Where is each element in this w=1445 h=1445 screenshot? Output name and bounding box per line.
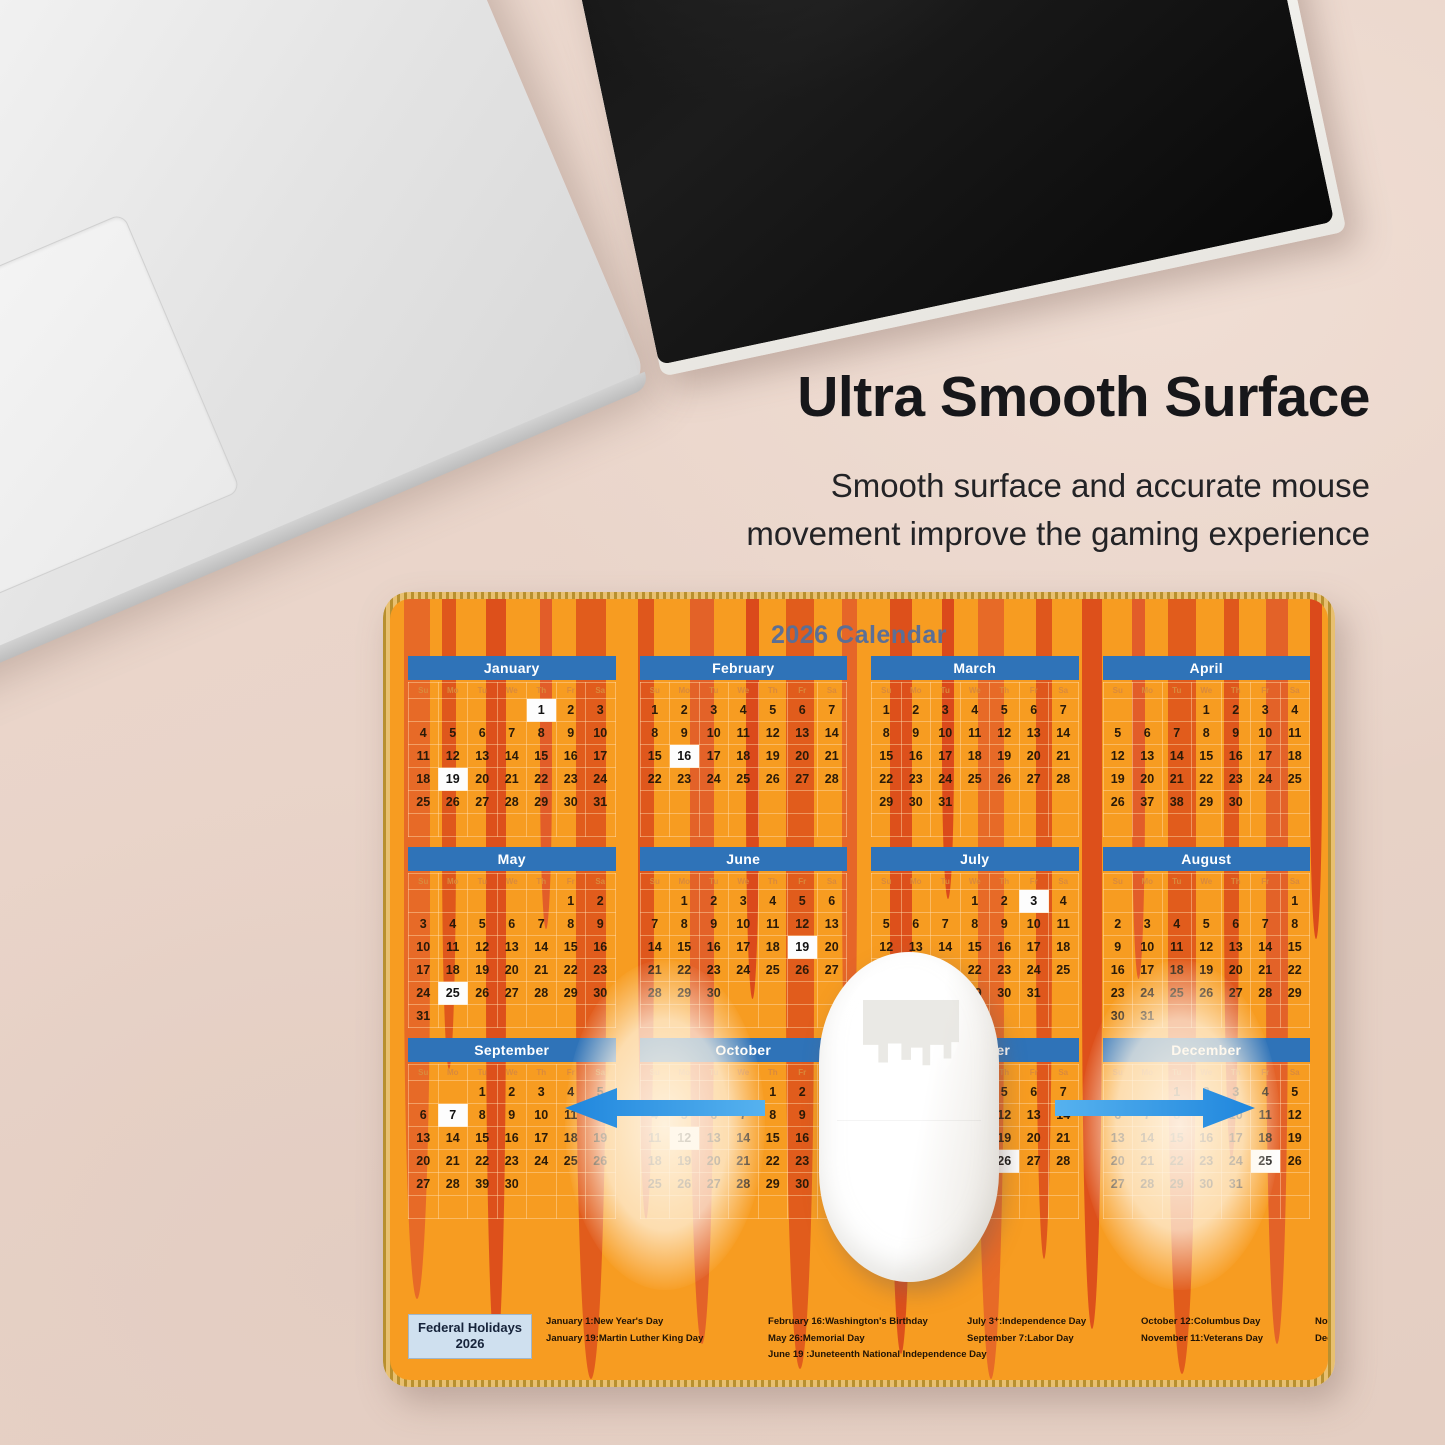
calendar-day-cell[interactable]: 1: [960, 890, 990, 913]
calendar-day-cell[interactable]: 9: [670, 722, 700, 745]
calendar-day-cell[interactable]: 14: [438, 1127, 468, 1150]
calendar-day-cell[interactable]: 22: [468, 1150, 498, 1173]
calendar-day-cell[interactable]: 11: [640, 1127, 670, 1150]
calendar-day-cell[interactable]: 30: [1192, 1173, 1222, 1196]
calendar-day-cell[interactable]: 3: [586, 699, 616, 722]
calendar-day-cell[interactable]: 21: [1133, 1150, 1163, 1173]
calendar-day-cell[interactable]: 29: [872, 791, 902, 814]
calendar-day-cell[interactable]: 13: [1133, 745, 1163, 768]
calendar-day-cell[interactable]: 5: [1192, 913, 1222, 936]
calendar-day-cell[interactable]: 20: [1133, 768, 1163, 791]
calendar-day-cell[interactable]: 4: [960, 699, 990, 722]
calendar-day-cell[interactable]: 26: [670, 1173, 700, 1196]
calendar-day-cell[interactable]: 27: [1221, 982, 1251, 1005]
calendar-day-cell[interactable]: 10: [1133, 936, 1163, 959]
calendar-day-cell[interactable]: 17: [1251, 745, 1281, 768]
calendar-day-cell[interactable]: 4: [758, 890, 788, 913]
calendar-day-cell[interactable]: 8: [1192, 722, 1222, 745]
calendar-day-cell[interactable]: 15: [1280, 936, 1310, 959]
calendar-day-cell[interactable]: 8: [872, 722, 902, 745]
calendar-day-cell[interactable]: 19: [1280, 1127, 1310, 1150]
calendar-day-cell[interactable]: 12: [1192, 936, 1222, 959]
calendar-day-cell[interactable]: 16: [788, 1127, 818, 1150]
calendar-day-cell[interactable]: 8: [1280, 913, 1310, 936]
calendar-day-cell[interactable]: 16: [586, 936, 616, 959]
calendar-day-cell[interactable]: 2: [990, 890, 1020, 913]
calendar-day-cell[interactable]: 14: [1162, 745, 1192, 768]
calendar-day-cell[interactable]: 6: [1221, 913, 1251, 936]
calendar-day-cell[interactable]: 23: [586, 959, 616, 982]
calendar-day-cell[interactable]: 30: [1103, 1005, 1133, 1028]
calendar-day-cell[interactable]: 10: [699, 722, 729, 745]
calendar-day-cell[interactable]: 10: [931, 722, 961, 745]
calendar-day-cell[interactable]: 21: [1049, 1127, 1079, 1150]
calendar-day-cell[interactable]: 30: [497, 1173, 527, 1196]
calendar-day-cell[interactable]: 6: [1019, 1081, 1049, 1104]
calendar-day-cell[interactable]: 23: [670, 768, 700, 791]
calendar-day-cell[interactable]: 11: [409, 745, 439, 768]
calendar-day-cell[interactable]: 25: [729, 768, 759, 791]
calendar-day-cell[interactable]: 18: [1049, 936, 1079, 959]
calendar-day-cell[interactable]: 1: [1192, 699, 1222, 722]
calendar-day-cell[interactable]: 10: [527, 1104, 557, 1127]
calendar-day-cell[interactable]: 31: [1133, 1005, 1163, 1028]
calendar-day-cell[interactable]: 16: [497, 1127, 527, 1150]
calendar-day-cell[interactable]: 29: [670, 982, 700, 1005]
calendar-day-cell[interactable]: 31: [1019, 982, 1049, 1005]
calendar-day-cell[interactable]: 30: [586, 982, 616, 1005]
calendar-day-cell[interactable]: 7: [438, 1104, 468, 1127]
calendar-day-cell[interactable]: 19: [758, 745, 788, 768]
calendar-day-cell[interactable]: 29: [556, 982, 586, 1005]
calendar-day-cell[interactable]: 11: [1049, 913, 1079, 936]
calendar-day-cell[interactable]: 7: [1049, 699, 1079, 722]
calendar-day-cell[interactable]: 4: [1280, 699, 1310, 722]
calendar-day-cell[interactable]: 16: [556, 745, 586, 768]
calendar-day-cell[interactable]: 26: [438, 791, 468, 814]
calendar-day-cell[interactable]: 2: [788, 1081, 818, 1104]
calendar-day-cell[interactable]: 2: [1221, 699, 1251, 722]
calendar-day-cell[interactable]: 38: [1162, 791, 1192, 814]
calendar-day-cell[interactable]: 26: [1103, 791, 1133, 814]
calendar-day-cell[interactable]: 25: [1251, 1150, 1281, 1173]
calendar-day-cell[interactable]: 8: [670, 913, 700, 936]
calendar-day-cell[interactable]: 17: [527, 1127, 557, 1150]
calendar-day-cell[interactable]: 2: [901, 699, 931, 722]
calendar-day-cell[interactable]: 26: [1192, 982, 1222, 1005]
calendar-day-cell[interactable]: 12: [670, 1127, 700, 1150]
calendar-day-cell[interactable]: 22: [1162, 1150, 1192, 1173]
calendar-day-cell[interactable]: 24: [1133, 982, 1163, 1005]
calendar-day-cell[interactable]: 28: [438, 1173, 468, 1196]
calendar-day-cell[interactable]: 11: [729, 722, 759, 745]
calendar-day-cell[interactable]: 21: [497, 768, 527, 791]
calendar-day-cell[interactable]: 28: [1133, 1173, 1163, 1196]
calendar-day-cell[interactable]: 23: [1103, 982, 1133, 1005]
calendar-day-cell[interactable]: 20: [699, 1150, 729, 1173]
calendar-day-cell[interactable]: 5: [872, 913, 902, 936]
calendar-day-cell[interactable]: 24: [409, 982, 439, 1005]
calendar-day-cell[interactable]: 21: [1162, 768, 1192, 791]
calendar-day-cell[interactable]: 10: [1251, 722, 1281, 745]
calendar-day-cell[interactable]: 25: [556, 1150, 586, 1173]
calendar-day-cell[interactable]: 13: [468, 745, 498, 768]
calendar-day-cell[interactable]: 22: [758, 1150, 788, 1173]
calendar-day-cell[interactable]: 8: [556, 913, 586, 936]
calendar-day-cell[interactable]: 17: [1221, 1127, 1251, 1150]
calendar-day-cell[interactable]: 28: [817, 768, 847, 791]
calendar-day-cell[interactable]: 22: [1192, 768, 1222, 791]
calendar-day-cell[interactable]: 14: [729, 1127, 759, 1150]
calendar-day-cell[interactable]: 13: [1019, 722, 1049, 745]
calendar-day-cell[interactable]: 20: [817, 936, 847, 959]
calendar-day-cell[interactable]: 8: [640, 722, 670, 745]
computer-mouse[interactable]: [819, 952, 999, 1282]
calendar-day-cell[interactable]: 21: [640, 959, 670, 982]
calendar-day-cell[interactable]: 12: [758, 722, 788, 745]
calendar-day-cell[interactable]: 18: [758, 936, 788, 959]
calendar-day-cell[interactable]: 17: [1133, 959, 1163, 982]
calendar-day-cell[interactable]: 19: [586, 1127, 616, 1150]
calendar-day-cell[interactable]: 24: [527, 1150, 557, 1173]
calendar-day-cell[interactable]: 22: [872, 768, 902, 791]
calendar-day-cell[interactable]: 37: [1133, 791, 1163, 814]
calendar-day-cell[interactable]: 10: [1019, 913, 1049, 936]
calendar-day-cell[interactable]: 9: [990, 913, 1020, 936]
calendar-day-cell[interactable]: 31: [931, 791, 961, 814]
calendar-day-cell[interactable]: 16: [1221, 745, 1251, 768]
calendar-day-cell[interactable]: 20: [468, 768, 498, 791]
calendar-day-cell[interactable]: 5: [788, 890, 818, 913]
calendar-day-cell[interactable]: 7: [527, 913, 557, 936]
calendar-day-cell[interactable]: 11: [438, 936, 468, 959]
calendar-day-cell[interactable]: 20: [497, 959, 527, 982]
calendar-day-cell[interactable]: 13: [497, 936, 527, 959]
calendar-day-cell[interactable]: 2: [497, 1081, 527, 1104]
calendar-day-cell[interactable]: 30: [1221, 791, 1251, 814]
calendar-day-cell[interactable]: 18: [1162, 959, 1192, 982]
calendar-day-cell[interactable]: 13: [1019, 1104, 1049, 1127]
calendar-day-cell[interactable]: 19: [1192, 959, 1222, 982]
calendar-day-cell[interactable]: 20: [1221, 959, 1251, 982]
calendar-day-cell[interactable]: 11: [1162, 936, 1192, 959]
calendar-day-cell[interactable]: 17: [931, 745, 961, 768]
calendar-day-cell[interactable]: 15: [1162, 1127, 1192, 1150]
calendar-day-cell[interactable]: 14: [640, 936, 670, 959]
calendar-day-cell[interactable]: 27: [409, 1173, 439, 1196]
calendar-day-cell[interactable]: 1: [670, 890, 700, 913]
calendar-day-cell[interactable]: 21: [817, 745, 847, 768]
calendar-day-cell[interactable]: 26: [990, 768, 1020, 791]
calendar-day-cell[interactable]: 25: [438, 982, 468, 1005]
calendar-day-cell[interactable]: 4: [409, 722, 439, 745]
calendar-day-cell[interactable]: 19: [670, 1150, 700, 1173]
calendar-day-cell[interactable]: 23: [556, 768, 586, 791]
calendar-day-cell[interactable]: 7: [497, 722, 527, 745]
calendar-day-cell[interactable]: 10: [409, 936, 439, 959]
calendar-day-cell[interactable]: 3: [1133, 913, 1163, 936]
calendar-day-cell[interactable]: 16: [1192, 1127, 1222, 1150]
calendar-day-cell[interactable]: 12: [1103, 745, 1133, 768]
calendar-day-cell[interactable]: 3: [1019, 890, 1049, 913]
calendar-day-cell[interactable]: 25: [758, 959, 788, 982]
calendar-day-cell[interactable]: 6: [468, 722, 498, 745]
calendar-day-cell[interactable]: 24: [931, 768, 961, 791]
calendar-day-cell[interactable]: 12: [990, 722, 1020, 745]
calendar-day-cell[interactable]: 14: [497, 745, 527, 768]
calendar-day-cell[interactable]: 21: [527, 959, 557, 982]
calendar-day-cell[interactable]: 4: [729, 699, 759, 722]
calendar-day-cell[interactable]: 13: [817, 913, 847, 936]
calendar-day-cell[interactable]: 24: [1251, 768, 1281, 791]
calendar-day-cell[interactable]: 15: [1192, 745, 1222, 768]
calendar-day-cell[interactable]: 22: [1280, 959, 1310, 982]
calendar-day-cell[interactable]: 23: [1221, 768, 1251, 791]
calendar-day-cell[interactable]: 27: [1103, 1173, 1133, 1196]
calendar-day-cell[interactable]: 3: [699, 699, 729, 722]
calendar-day-cell[interactable]: 25: [1280, 768, 1310, 791]
calendar-day-cell[interactable]: 14: [931, 936, 961, 959]
calendar-day-cell[interactable]: 15: [527, 745, 557, 768]
calendar-day-cell[interactable]: 23: [901, 768, 931, 791]
calendar-day-cell[interactable]: 27: [1019, 768, 1049, 791]
calendar-day-cell[interactable]: 18: [1280, 745, 1310, 768]
calendar-day-cell[interactable]: 25: [640, 1173, 670, 1196]
calendar-day-cell[interactable]: 1: [872, 699, 902, 722]
calendar-day-cell[interactable]: 29: [1192, 791, 1222, 814]
calendar-day-cell[interactable]: 7: [1251, 913, 1281, 936]
calendar-day-cell[interactable]: 18: [556, 1127, 586, 1150]
calendar-day-cell[interactable]: 3: [729, 890, 759, 913]
calendar-day-cell[interactable]: 16: [1103, 959, 1133, 982]
calendar-day-cell[interactable]: 30: [699, 982, 729, 1005]
calendar-day-cell[interactable]: 9: [699, 913, 729, 936]
calendar-day-cell[interactable]: 30: [556, 791, 586, 814]
calendar-day-cell[interactable]: 29: [1280, 982, 1310, 1005]
calendar-day-cell[interactable]: 6: [1133, 722, 1163, 745]
calendar-day-cell[interactable]: 27: [699, 1173, 729, 1196]
calendar-day-cell[interactable]: 9: [497, 1104, 527, 1127]
calendar-day-cell[interactable]: 28: [527, 982, 557, 1005]
calendar-day-cell[interactable]: 6: [817, 890, 847, 913]
calendar-day-cell[interactable]: 3: [931, 699, 961, 722]
calendar-day-cell[interactable]: 27: [1019, 1150, 1049, 1173]
calendar-day-cell[interactable]: 15: [758, 1127, 788, 1150]
calendar-day-cell[interactable]: 1: [468, 1081, 498, 1104]
calendar-day-cell[interactable]: 6: [497, 913, 527, 936]
calendar-day-cell[interactable]: 19: [1103, 768, 1133, 791]
calendar-day-cell[interactable]: 8: [527, 722, 557, 745]
calendar-day-cell[interactable]: 1: [1280, 890, 1310, 913]
calendar-day-cell[interactable]: 10: [586, 722, 616, 745]
calendar-day-cell[interactable]: 21: [1251, 959, 1281, 982]
calendar-day-cell[interactable]: 14: [1251, 936, 1281, 959]
calendar-day-cell[interactable]: 21: [729, 1150, 759, 1173]
calendar-day-cell[interactable]: 25: [1049, 959, 1079, 982]
calendar-day-cell[interactable]: 28: [1049, 768, 1079, 791]
calendar-day-cell[interactable]: 28: [640, 982, 670, 1005]
calendar-day-cell[interactable]: 2: [586, 890, 616, 913]
calendar-day-cell[interactable]: 6: [409, 1104, 439, 1127]
calendar-day-cell[interactable]: 14: [1133, 1127, 1163, 1150]
calendar-day-cell[interactable]: 5: [468, 913, 498, 936]
calendar-day-cell[interactable]: 25: [960, 768, 990, 791]
calendar-day-cell[interactable]: 28: [497, 791, 527, 814]
calendar-day-cell[interactable]: 17: [699, 745, 729, 768]
calendar-day-cell[interactable]: 5: [438, 722, 468, 745]
calendar-day-cell[interactable]: 29: [1162, 1173, 1192, 1196]
calendar-day-cell[interactable]: 27: [788, 768, 818, 791]
calendar-day-cell[interactable]: 31: [409, 1005, 439, 1028]
calendar-day-cell[interactable]: 12: [468, 936, 498, 959]
calendar-day-cell[interactable]: 20: [1019, 745, 1049, 768]
calendar-day-cell[interactable]: 24: [586, 768, 616, 791]
calendar-day-cell[interactable]: 2: [1103, 913, 1133, 936]
calendar-day-cell[interactable]: 1: [640, 699, 670, 722]
calendar-day-cell[interactable]: 31: [586, 791, 616, 814]
calendar-day-cell[interactable]: 20: [1019, 1127, 1049, 1150]
calendar-day-cell[interactable]: 28: [1251, 982, 1281, 1005]
calendar-day-cell[interactable]: 3: [1251, 699, 1281, 722]
calendar-day-cell[interactable]: 16: [990, 936, 1020, 959]
calendar-day-cell[interactable]: 3: [527, 1081, 557, 1104]
calendar-day-cell[interactable]: 5: [1103, 722, 1133, 745]
calendar-day-cell[interactable]: 14: [817, 722, 847, 745]
calendar-day-cell[interactable]: 26: [1280, 1150, 1310, 1173]
calendar-day-cell[interactable]: 15: [556, 936, 586, 959]
calendar-day-cell[interactable]: 2: [699, 890, 729, 913]
calendar-day-cell[interactable]: 7: [640, 913, 670, 936]
calendar-day-cell[interactable]: 13: [1103, 1127, 1133, 1150]
calendar-day-cell[interactable]: 7: [817, 699, 847, 722]
calendar-day-cell[interactable]: 15: [960, 936, 990, 959]
calendar-day-cell[interactable]: 11: [758, 913, 788, 936]
calendar-day-cell[interactable]: 8: [468, 1104, 498, 1127]
calendar-day-cell[interactable]: 21: [438, 1150, 468, 1173]
calendar-day-cell[interactable]: 1: [527, 699, 557, 722]
calendar-day-cell[interactable]: 8: [960, 913, 990, 936]
calendar-day-cell[interactable]: 1: [556, 890, 586, 913]
calendar-day-cell[interactable]: 10: [729, 913, 759, 936]
calendar-day-cell[interactable]: 6: [788, 699, 818, 722]
calendar-day-cell[interactable]: 9: [556, 722, 586, 745]
calendar-day-cell[interactable]: 27: [817, 959, 847, 982]
calendar-day-cell[interactable]: 4: [438, 913, 468, 936]
calendar-day-cell[interactable]: 28: [1049, 1150, 1079, 1173]
calendar-day-cell[interactable]: 18: [1251, 1127, 1281, 1150]
calendar-day-cell[interactable]: 25: [1162, 982, 1192, 1005]
calendar-day-cell[interactable]: 4: [1162, 913, 1192, 936]
calendar-day-cell[interactable]: 24: [729, 959, 759, 982]
calendar-day-cell[interactable]: 18: [438, 959, 468, 982]
calendar-day-cell[interactable]: 6: [901, 913, 931, 936]
calendar-day-cell[interactable]: 15: [640, 745, 670, 768]
calendar-day-cell[interactable]: 30: [901, 791, 931, 814]
calendar-day-cell[interactable]: 30: [788, 1173, 818, 1196]
calendar-day-cell[interactable]: 9: [901, 722, 931, 745]
calendar-day-cell[interactable]: 16: [670, 745, 700, 768]
calendar-day-cell[interactable]: 7: [931, 913, 961, 936]
calendar-day-cell[interactable]: 23: [1192, 1150, 1222, 1173]
calendar-day-cell[interactable]: 23: [788, 1150, 818, 1173]
calendar-day-cell[interactable]: 25: [409, 791, 439, 814]
calendar-day-cell[interactable]: 18: [640, 1150, 670, 1173]
calendar-day-cell[interactable]: 5: [758, 699, 788, 722]
calendar-day-cell[interactable]: 15: [872, 745, 902, 768]
calendar-day-cell[interactable]: 9: [586, 913, 616, 936]
calendar-day-cell[interactable]: 17: [729, 936, 759, 959]
calendar-day-cell[interactable]: 14: [527, 936, 557, 959]
calendar-day-cell[interactable]: 22: [670, 959, 700, 982]
calendar-day-cell[interactable]: 14: [1049, 722, 1079, 745]
calendar-day-cell[interactable]: 23: [497, 1150, 527, 1173]
calendar-day-cell[interactable]: 3: [409, 913, 439, 936]
calendar-day-cell[interactable]: 22: [640, 768, 670, 791]
calendar-day-cell[interactable]: 17: [409, 959, 439, 982]
calendar-day-cell[interactable]: 17: [586, 745, 616, 768]
calendar-day-cell[interactable]: 13: [788, 722, 818, 745]
calendar-day-cell[interactable]: 11: [960, 722, 990, 745]
calendar-day-cell[interactable]: 6: [1019, 699, 1049, 722]
calendar-day-cell[interactable]: 15: [468, 1127, 498, 1150]
calendar-day-cell[interactable]: 11: [1280, 722, 1310, 745]
calendar-day-cell[interactable]: 27: [468, 791, 498, 814]
calendar-day-cell[interactable]: 15: [670, 936, 700, 959]
calendar-day-cell[interactable]: 19: [788, 936, 818, 959]
calendar-day-cell[interactable]: 7: [1162, 722, 1192, 745]
calendar-day-cell[interactable]: 12: [788, 913, 818, 936]
calendar-day-cell[interactable]: 5: [1280, 1081, 1310, 1104]
calendar-day-cell[interactable]: 18: [960, 745, 990, 768]
calendar-day-cell[interactable]: 5: [990, 699, 1020, 722]
calendar-day-cell[interactable]: 9: [1103, 936, 1133, 959]
calendar-day-cell[interactable]: 9: [788, 1104, 818, 1127]
calendar-day-cell[interactable]: 13: [1221, 936, 1251, 959]
calendar-day-cell[interactable]: 19: [990, 745, 1020, 768]
calendar-day-cell[interactable]: 24: [1221, 1150, 1251, 1173]
calendar-day-cell[interactable]: 23: [990, 959, 1020, 982]
calendar-day-cell[interactable]: 22: [527, 768, 557, 791]
calendar-day-cell[interactable]: 9: [1221, 722, 1251, 745]
calendar-day-cell[interactable]: 2: [670, 699, 700, 722]
calendar-day-cell[interactable]: 28: [729, 1173, 759, 1196]
calendar-day-cell[interactable]: 39: [468, 1173, 498, 1196]
calendar-day-cell[interactable]: 29: [527, 791, 557, 814]
calendar-day-cell[interactable]: 16: [901, 745, 931, 768]
calendar-day-cell[interactable]: 20: [788, 745, 818, 768]
calendar-day-cell[interactable]: 29: [758, 1173, 788, 1196]
calendar-day-cell[interactable]: 12: [1280, 1104, 1310, 1127]
calendar-day-cell[interactable]: 24: [1019, 959, 1049, 982]
calendar-day-cell[interactable]: 16: [699, 936, 729, 959]
calendar-day-cell[interactable]: 26: [586, 1150, 616, 1173]
calendar-day-cell[interactable]: 17: [1019, 936, 1049, 959]
calendar-day-cell[interactable]: 27: [497, 982, 527, 1005]
calendar-day-cell[interactable]: 20: [409, 1150, 439, 1173]
calendar-day-cell[interactable]: 30: [990, 982, 1020, 1005]
calendar-day-cell[interactable]: 13: [699, 1127, 729, 1150]
calendar-day-cell[interactable]: 12: [438, 745, 468, 768]
calendar-day-cell[interactable]: 24: [699, 768, 729, 791]
calendar-day-cell[interactable]: 22: [556, 959, 586, 982]
calendar-day-cell[interactable]: 21: [1049, 745, 1079, 768]
calendar-day-cell[interactable]: 18: [729, 745, 759, 768]
calendar-day-cell[interactable]: 23: [699, 959, 729, 982]
calendar-day-cell[interactable]: 2: [556, 699, 586, 722]
calendar-day-cell[interactable]: 19: [438, 768, 468, 791]
calendar-day-cell[interactable]: 31: [1221, 1173, 1251, 1196]
calendar-day-cell[interactable]: 13: [409, 1127, 439, 1150]
